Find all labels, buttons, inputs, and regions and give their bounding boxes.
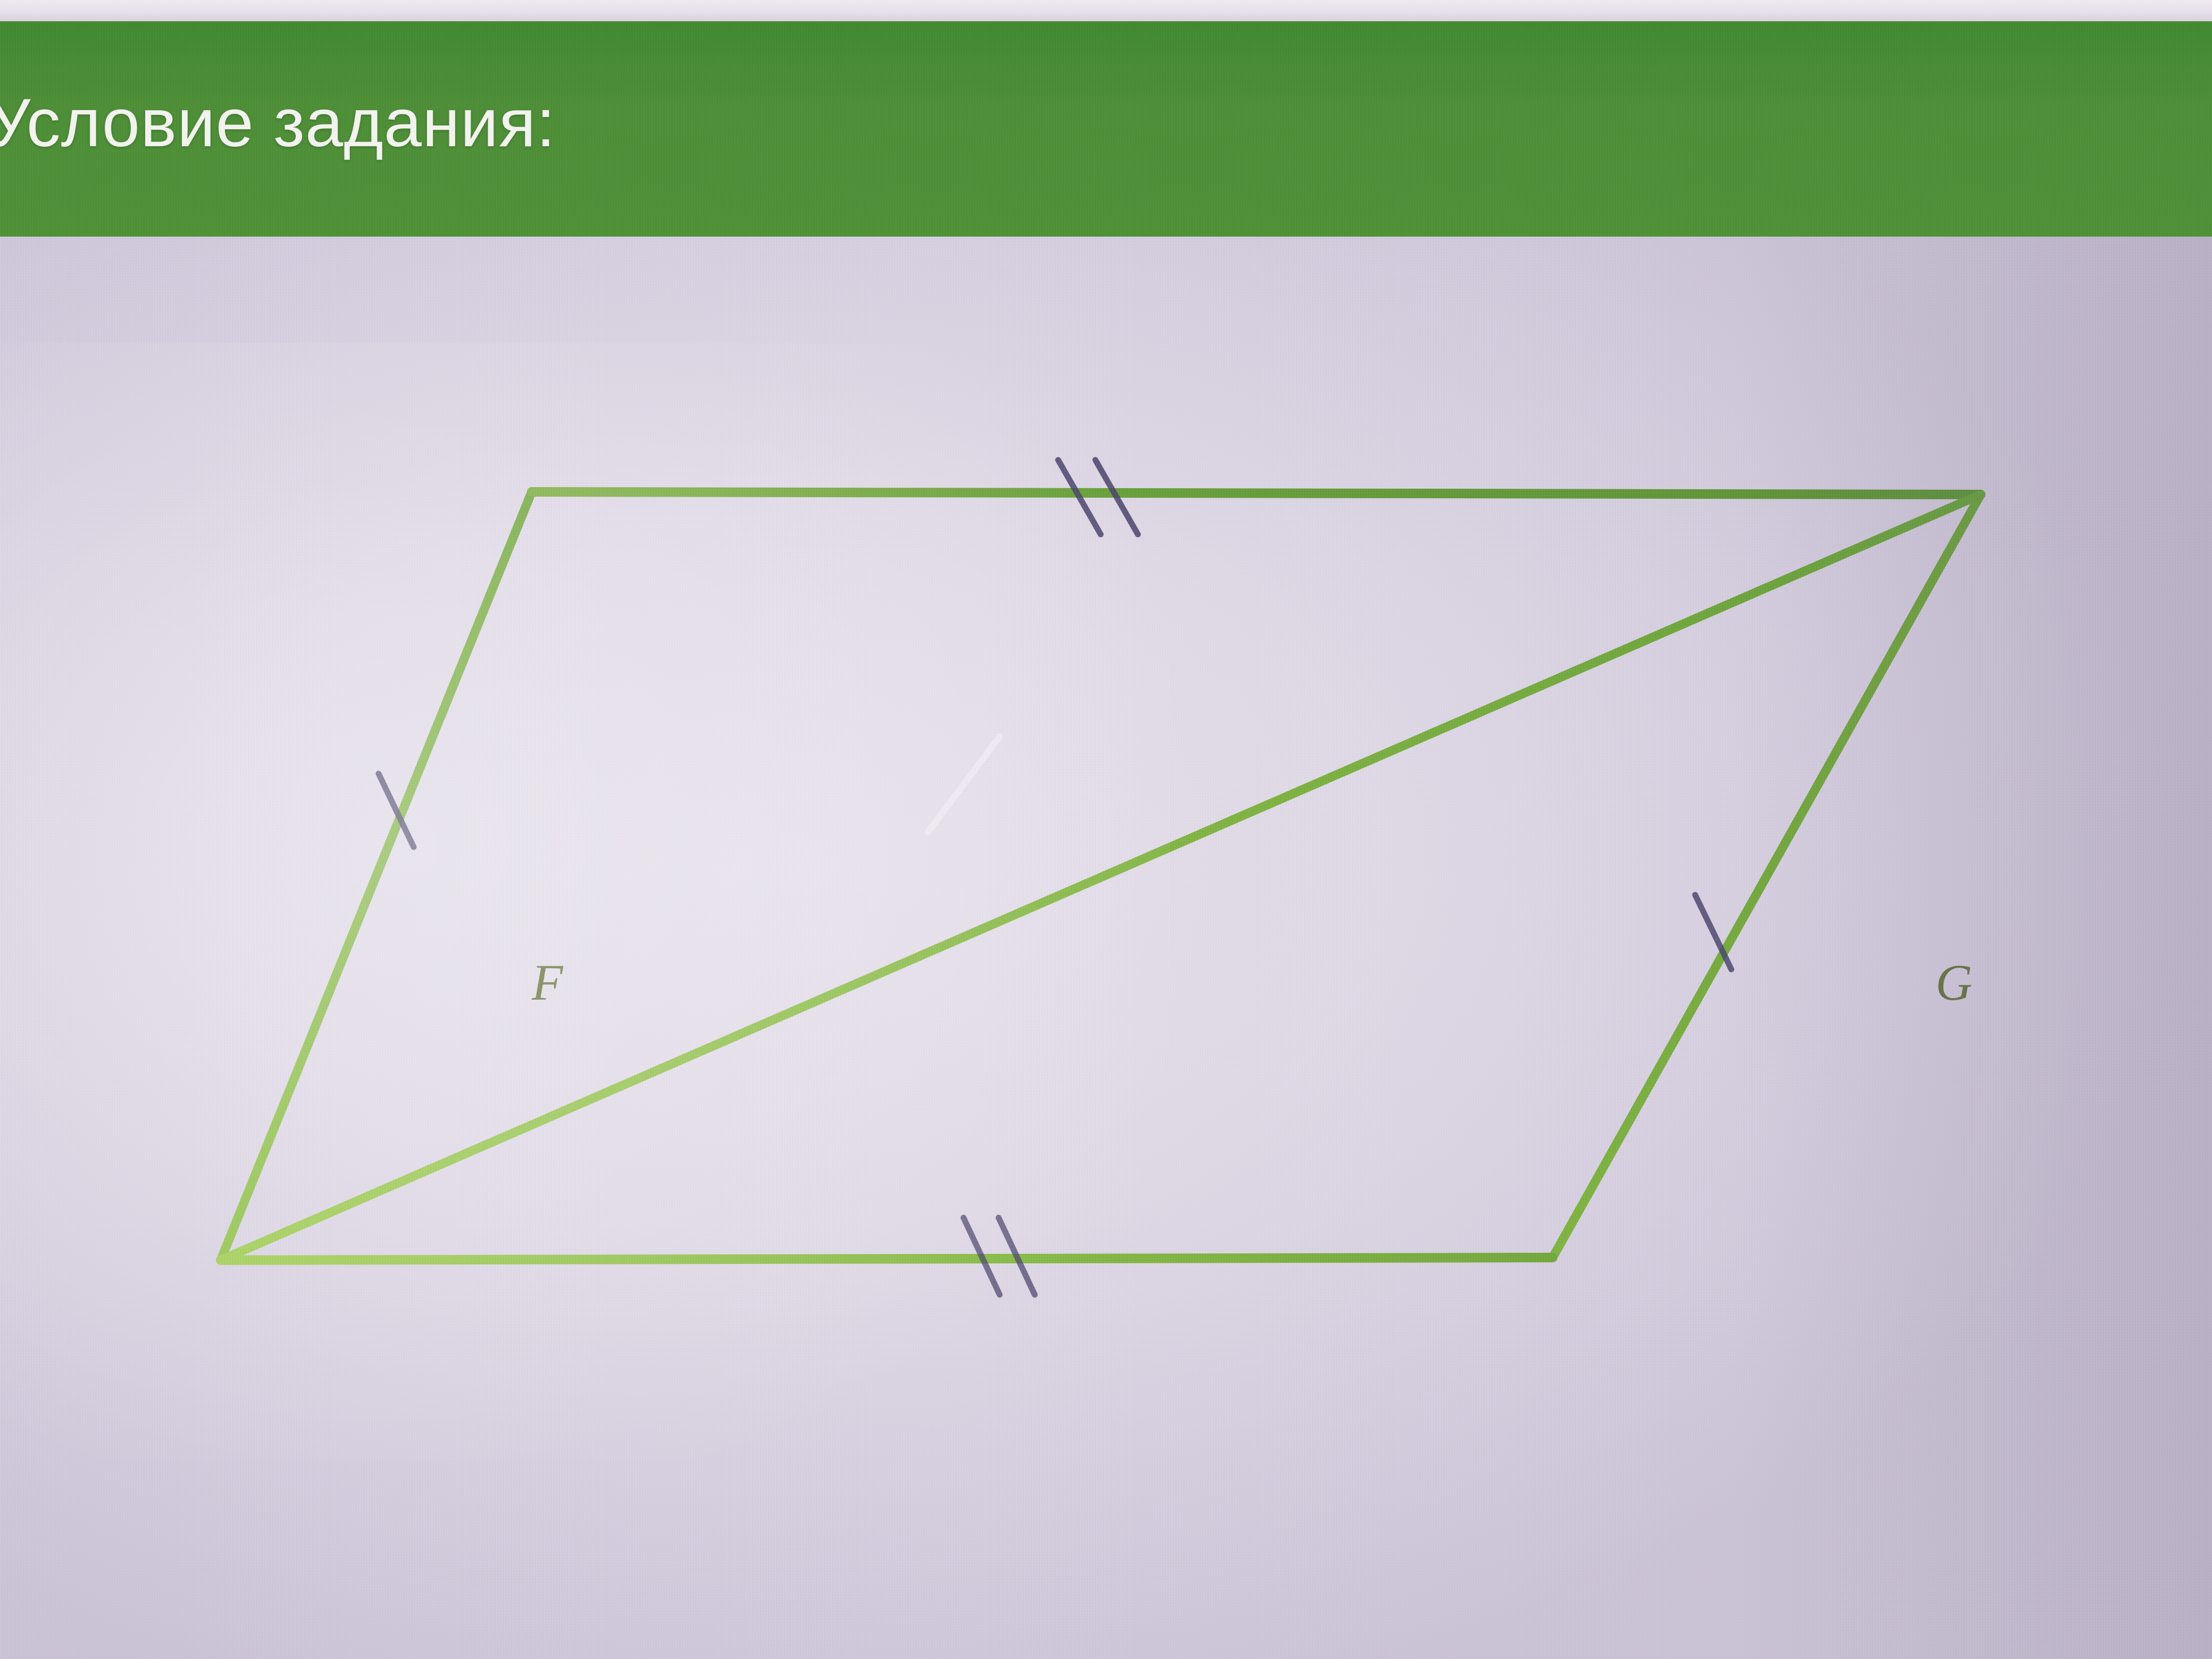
task-content-panel: F G H E Заполни пустые места о применени… [0, 237, 2212, 1659]
geometry-figure [0, 237, 2212, 1460]
screen-top-bezel [0, 0, 2212, 21]
vertex-label-F: F [532, 957, 563, 1008]
edge-EH [221, 1258, 1553, 1260]
screen-photo: Условие задания: [0, 0, 2212, 1659]
glare-streak [928, 736, 1000, 832]
edge-GH [1553, 495, 1981, 1258]
page-title: Условие задания: [0, 89, 556, 157]
tick-mark-GH [1695, 895, 1731, 969]
edge-FG [532, 492, 1981, 495]
vertex-label-G: G [1935, 957, 1972, 1008]
task-header-bar: Условие задания: [0, 21, 2212, 237]
